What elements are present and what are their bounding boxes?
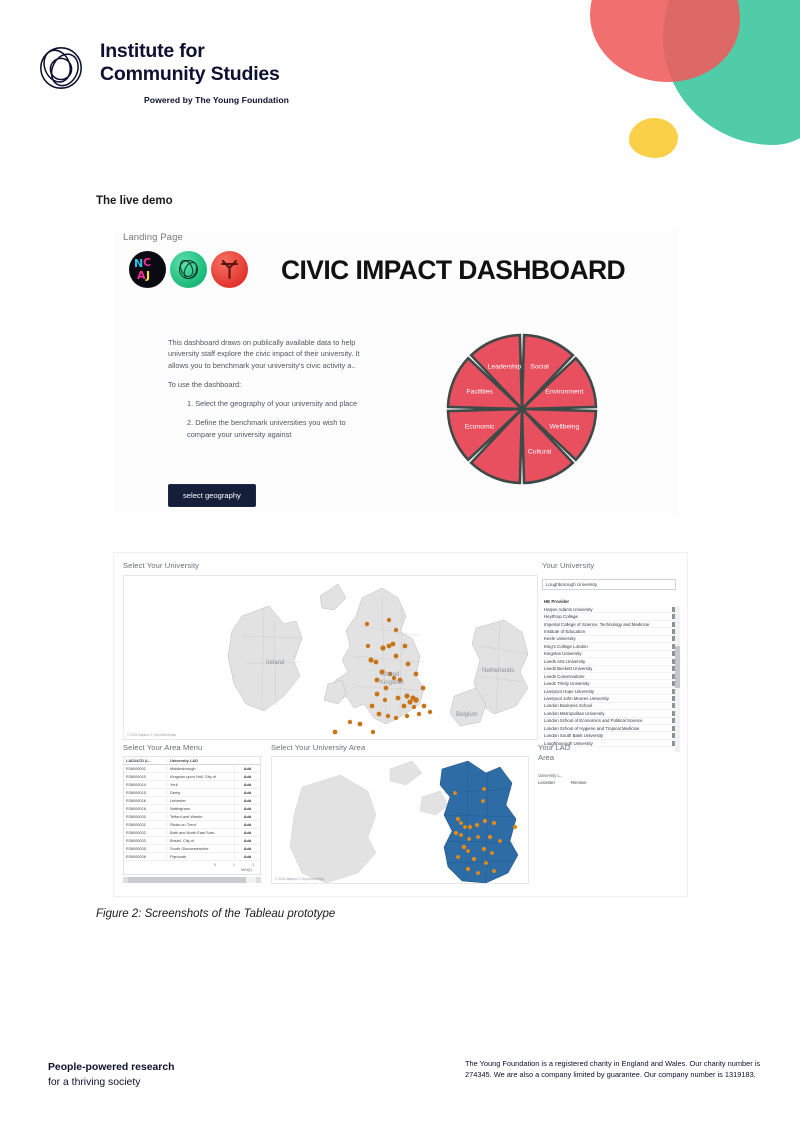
area-map-svg — [272, 757, 529, 884]
decorative-blobs — [560, 0, 800, 175]
provider-name: Institute of Education — [542, 629, 672, 634]
cell-lad-code: E06000015 — [124, 790, 166, 795]
add-area-button[interactable]: Add — [234, 838, 260, 843]
map-attribution: © 2024 Mapbox © OpenStreetMap — [127, 733, 176, 737]
svg-text:Belgium: Belgium — [456, 712, 478, 718]
select-area-menu-label: Select Your Area Menu — [123, 743, 263, 752]
select-university-area-label: Select Your University Area — [271, 743, 531, 752]
provider-name: Liverpool Hope University — [542, 689, 672, 694]
brand-line-1: Institute for — [100, 40, 289, 63]
area-menu-table: LAD24CD (L.. University LAD E06000002Mid… — [123, 756, 261, 875]
university-area-map[interactable]: © 2024 Mapbox © OpenStreetMap — [271, 756, 529, 884]
ics-logo-icon — [170, 251, 207, 288]
lower-dashboard-row: Select Your Area Menu LAD24CD (L.. Unive… — [123, 743, 681, 891]
provider-name: London South Bank University — [542, 733, 672, 738]
lad-title-line-2: Area — [538, 753, 678, 763]
radial-segment-label: Environment — [545, 388, 583, 395]
landing-copy: This dashboard draws on publically avail… — [168, 337, 368, 448]
landing-step-2: 2. Define the benchmark universities you… — [168, 417, 368, 440]
table-row[interactable]: E06000020Telford and WrekinAdd — [124, 813, 260, 821]
brand-powered-by: Powered by The Young Foundation — [144, 95, 289, 105]
provider-list-item[interactable]: London Business School — [542, 703, 680, 710]
provider-list-item[interactable]: King's College London — [542, 643, 680, 650]
svg-text:Ireland: Ireland — [266, 660, 284, 666]
provider-name: London Metropolitan University — [542, 711, 672, 716]
cell-lad-code: E06000010 — [124, 774, 166, 779]
cell-lad-code: E06000002 — [124, 766, 166, 771]
lad-sub-label: University L.. — [538, 773, 678, 778]
area-menu-table-header: LAD24CD (L.. University LAD — [124, 757, 260, 765]
provider-list-item[interactable]: Liverpool Hope University — [542, 688, 680, 695]
cell-lad-name: Derby — [166, 790, 234, 795]
your-university-panel: Your University HE Provider Harper Adams… — [542, 561, 680, 752]
cell-lad-code: E06000021 — [124, 822, 166, 827]
provider-name: Leeds Trinity University — [542, 681, 672, 686]
cell-lad-name: Stoke-on-Trent — [166, 822, 234, 827]
provider-list-item[interactable]: Keele University — [542, 636, 680, 643]
provider-name: Imperial College of Science, Technology … — [542, 622, 672, 627]
add-area-button[interactable]: Add — [234, 766, 260, 771]
table-row[interactable]: E06000025South GloucestershireAdd — [124, 845, 260, 853]
your-university-input[interactable] — [542, 579, 676, 590]
provider-list-item[interactable]: London South Bank University — [542, 732, 680, 739]
table-row[interactable]: E06000018NottinghamAdd — [124, 805, 260, 813]
add-area-button[interactable]: Add — [234, 830, 260, 835]
add-area-button[interactable]: Add — [234, 782, 260, 787]
area-map-attribution: © 2024 Mapbox © OpenStreetMap — [275, 877, 324, 881]
provider-list-item[interactable]: Harper Adams University — [542, 606, 680, 613]
cell-lad-code: E06000020 — [124, 814, 166, 819]
svg-text:Netherlands: Netherlands — [482, 668, 514, 674]
axis-tick-0: 0 — [214, 863, 216, 867]
brand-block: Institute for Community Studies Powered … — [100, 40, 289, 105]
provider-list-item[interactable]: Leeds Arts University — [542, 658, 680, 665]
table-row[interactable]: E06000026PlymouthAdd — [124, 853, 260, 861]
table-row[interactable]: E06000010Kingston upon Hull, City ofAdd — [124, 773, 260, 781]
dashboard-landing-screenshot: Landing Page NCAJ — [113, 227, 678, 517]
provider-name: London School of Economics and Political… — [542, 718, 672, 723]
cell-lad-code: E06000022 — [124, 830, 166, 835]
select-university-label: Select Your University — [123, 561, 538, 570]
provider-name: Liverpool John Moores University — [542, 696, 672, 701]
add-area-button[interactable]: Add — [234, 822, 260, 827]
cell-lad-code: E06000026 — [124, 854, 166, 859]
cell-lad-name: Bath and North East Som.. — [166, 830, 234, 835]
radial-segment-label: Social — [530, 364, 549, 371]
select-area-menu-section: Select Your Area Menu LAD24CD (L.. Unive… — [123, 743, 263, 883]
figure-caption: Figure 2: Screenshots of the Tableau pro… — [96, 908, 335, 920]
select-university-area-section: Select Your University Area — [271, 743, 531, 884]
cell-lad-name: Middlesbrough — [166, 766, 234, 771]
provider-list-item[interactable]: Leeds Beckett University — [542, 666, 680, 673]
your-university-label: Your University — [542, 561, 680, 570]
radial-segment-label: Wellbeing — [550, 424, 580, 431]
provider-list-scroll-thumb[interactable] — [675, 646, 680, 688]
add-area-button[interactable]: Add — [234, 814, 260, 819]
table-row[interactable]: E06000021Stoke-on-TrentAdd — [124, 821, 260, 829]
provider-name: London School of Hygiene and Tropical Me… — [542, 726, 672, 731]
radial-segment-label: Cultural — [528, 448, 552, 455]
cell-lad-code: E06000018 — [124, 806, 166, 811]
cell-lad-name: South Gloucestershire — [166, 846, 234, 851]
area-menu-horizontal-scrollbar[interactable] — [123, 877, 261, 883]
footer-legal-text: The Young Foundation is a registered cha… — [465, 1058, 765, 1081]
civic-impact-radial-chart: SocialEnvironmentWellbeingCulturalEconom… — [438, 325, 606, 493]
landing-step-1: 1. Select the geography of your universi… — [168, 398, 368, 409]
select-university-section: Select Your University — [123, 561, 538, 740]
svg-text:United: United — [382, 672, 399, 678]
provider-list-scrollbar[interactable] — [675, 606, 680, 752]
add-area-button[interactable]: Add — [234, 854, 260, 859]
landing-paragraph-1: This dashboard draws on publically avail… — [168, 337, 368, 371]
cell-lad-code: E06000025 — [124, 846, 166, 851]
cell-lad-name: Plymouth — [166, 854, 234, 859]
provider-list-item[interactable]: London School of Hygiene and Tropical Me… — [542, 725, 680, 732]
your-lad-area-panel: Your LAD Area University L.. Leicester R… — [538, 743, 678, 785]
provider-list-item[interactable]: Leeds Trinity University — [542, 680, 680, 687]
provider-name: Heythrop College — [542, 614, 672, 619]
cell-lad-name: York — [166, 782, 234, 787]
add-area-button[interactable]: Add — [234, 774, 260, 779]
section-heading: The live demo — [96, 195, 173, 207]
lad-title-line-1: Your LAD — [538, 743, 678, 753]
provider-name: Leeds Beckett University — [542, 666, 672, 671]
he-provider-list[interactable]: Harper Adams UniversityHeythrop CollegeI… — [542, 606, 680, 752]
provider-name: Kingston University — [542, 651, 672, 656]
footer-tagline-bold: People-powered research — [48, 1060, 174, 1075]
provider-list-item[interactable]: Institute of Education — [542, 628, 680, 635]
scroll-right-arrow-icon[interactable] — [256, 877, 261, 883]
column-header-university-lad: University LAD — [166, 758, 234, 763]
document-page: Institute for Community Studies Powered … — [0, 0, 800, 1132]
nca-logo-icon: NCAJ — [129, 251, 166, 288]
table-row[interactable]: E06000015DerbyAdd — [124, 789, 260, 797]
provider-name: London Business School — [542, 703, 672, 708]
landing-paragraph-2: To use the dashboard: — [168, 379, 368, 390]
lad-remove-button[interactable]: Remove — [571, 780, 587, 785]
radial-chart-svg: SocialEnvironmentWellbeingCulturalEconom… — [438, 325, 606, 493]
cell-lad-name: Telford and Wrekin — [166, 814, 234, 819]
landing-page-tab[interactable]: Landing Page — [123, 232, 183, 243]
provider-list-item[interactable]: Liverpool John Moores University — [542, 695, 680, 702]
provider-list-item[interactable]: Imperial College of Science, Technology … — [542, 621, 680, 628]
footer-tagline: People-powered research for a thriving s… — [48, 1060, 174, 1090]
cell-lad-name: Bristol, City of — [166, 838, 234, 843]
provider-name: Leeds Conservatoire — [542, 674, 672, 679]
uk-university-map[interactable]: Ireland United Kingdom Netherlands Belgi… — [123, 575, 538, 740]
uk-map-svg: Ireland United Kingdom Netherlands Belgi… — [124, 576, 538, 740]
svg-text:Kingdom: Kingdom — [380, 680, 404, 686]
provider-list-item[interactable]: London School of Economics and Political… — [542, 718, 680, 725]
table-row[interactable]: E06000023Bristol, City ofAdd — [124, 837, 260, 845]
radial-segment-label: Facilities — [466, 388, 493, 395]
cell-lad-code: E06000016 — [124, 798, 166, 803]
provider-name: Harper Adams University — [542, 607, 672, 612]
provider-list-item[interactable]: Leeds Conservatoire — [542, 673, 680, 680]
radial-segment-label: Economic — [465, 424, 495, 431]
add-area-button[interactable]: Add — [234, 846, 260, 851]
he-provider-header: HE Provider — [542, 599, 680, 604]
table-axis-label: MIN(1) — [124, 867, 260, 874]
add-area-button[interactable]: Add — [234, 790, 260, 795]
provider-list-item[interactable]: Kingston University — [542, 651, 680, 658]
provider-name: Keele University — [542, 636, 672, 641]
dashboard-title: CIVIC IMPACT DASHBOARD — [281, 255, 625, 286]
dashboard-map-screenshot: Select Your University — [113, 552, 688, 897]
cell-lad-code: E06000023 — [124, 838, 166, 843]
provider-list-item[interactable]: London Metropolitan University — [542, 710, 680, 717]
ics-interlocking-circles-icon — [36, 43, 86, 93]
table-row[interactable]: E06000016LeicesterAdd — [124, 797, 260, 805]
lad-selected-value: Leicester — [538, 780, 555, 785]
brand-line-2: Community Studies — [100, 63, 289, 86]
add-area-button[interactable]: Add — [234, 798, 260, 803]
lad-value-row: Leicester Remove — [538, 780, 678, 785]
axis-tick-1: 1 — [233, 863, 235, 867]
cell-lad-name: Nottingham — [166, 806, 234, 811]
footer-tagline-rest: for a thriving society — [48, 1075, 174, 1090]
cell-lad-code: E06000014 — [124, 782, 166, 787]
provider-name: King's College London — [542, 644, 672, 649]
provider-list-item[interactable]: Heythrop College — [542, 613, 680, 620]
table-row[interactable]: E06000002MiddlesbroughAdd — [124, 765, 260, 773]
axis-tick-2: 2 — [252, 863, 254, 867]
column-header-lad-code: LAD24CD (L.. — [124, 758, 166, 763]
dashboard-logo-row: NCAJ — [129, 251, 248, 288]
yellow-blob-shape — [629, 118, 678, 158]
horizontal-scroll-thumb[interactable] — [128, 877, 246, 883]
cell-lad-name: Leicester — [166, 798, 234, 803]
add-area-button[interactable]: Add — [234, 806, 260, 811]
table-row[interactable]: E06000022Bath and North East Som..Add — [124, 829, 260, 837]
radial-segment-label: Leadership — [488, 364, 522, 371]
cell-lad-name: Kingston upon Hull, City of — [166, 774, 234, 779]
table-row[interactable]: E06000014YorkAdd — [124, 781, 260, 789]
masthead: Institute for Community Studies Powered … — [36, 40, 289, 105]
select-geography-button[interactable]: select geography — [168, 484, 256, 507]
provider-name: Leeds Arts University — [542, 659, 672, 664]
young-foundation-logo-icon — [211, 251, 248, 288]
